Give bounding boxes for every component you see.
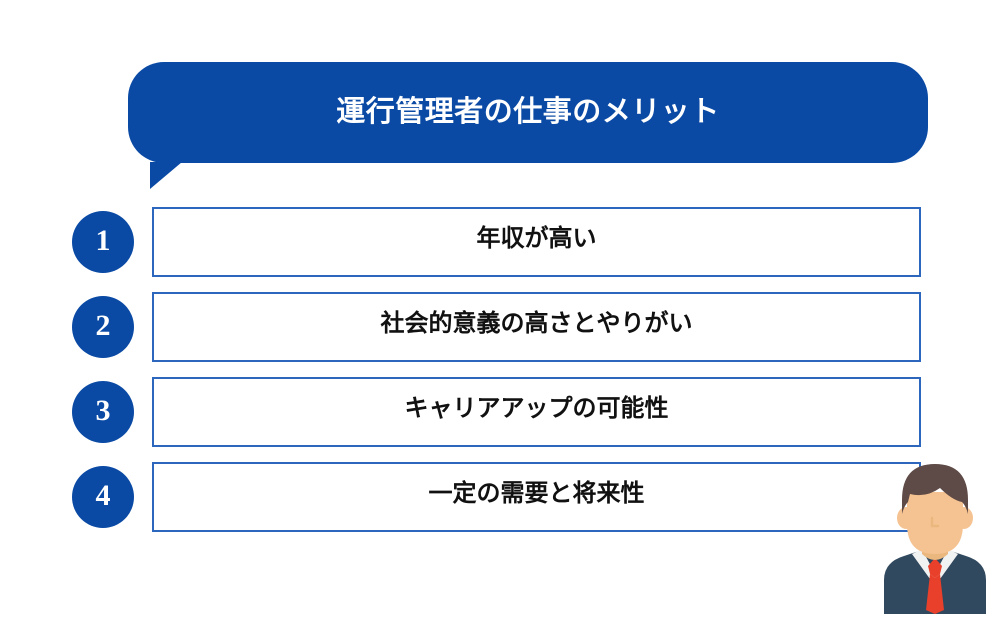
benefits-list: 1 年収が高い 2 社会的意義の高さとやりがい 3 キャリアアップの可能性 (0, 0, 1000, 625)
list-item-box[interactable]: 社会的意義の高さとやりがい (152, 292, 921, 362)
list-item-box[interactable]: キャリアアップの可能性 (152, 377, 921, 447)
list-item-number-badge: 3 (72, 381, 134, 443)
list-item-label: 年収が高い (477, 227, 597, 251)
list-item-label: キャリアアップの可能性 (405, 397, 669, 421)
list-item-label: 一定の需要と将来性 (429, 482, 645, 506)
list-item-number-badge: 1 (72, 211, 134, 273)
face (907, 492, 963, 554)
list-item-box[interactable]: 年収が高い (152, 207, 921, 277)
business-person-avatar (880, 462, 990, 614)
list-item-label: 社会的意義の高さとやりがい (381, 312, 693, 336)
list-item-number-badge: 2 (72, 296, 134, 358)
list-item[interactable]: 4 一定の需要と将来性 (72, 462, 932, 532)
list-item-number: 1 (96, 226, 111, 258)
list-item-number: 4 (96, 481, 111, 513)
list-item-number: 2 (96, 311, 111, 343)
list-item-number: 3 (96, 396, 111, 428)
list-item[interactable]: 1 年収が高い (72, 207, 932, 277)
list-item[interactable]: 3 キャリアアップの可能性 (72, 377, 932, 447)
infographic-canvas: 運行管理者の仕事のメリット 1 年収が高い 2 社会的意義の高さとやりがい 3 (0, 0, 1000, 625)
list-item[interactable]: 2 社会的意義の高さとやりがい (72, 292, 932, 362)
list-item-number-badge: 4 (72, 466, 134, 528)
list-item-box[interactable]: 一定の需要と将来性 (152, 462, 921, 532)
